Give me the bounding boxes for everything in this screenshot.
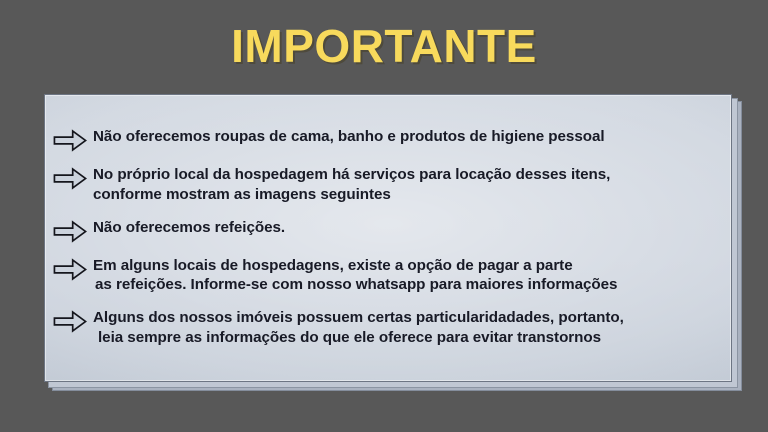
content-panel: Não oferecemos roupas de cama, banho e p… (44, 94, 732, 382)
list-item-text: Alguns dos nossos imóveis possuem certas… (93, 308, 723, 348)
bullet-list: Não oferecemos roupas de cama, banho e p… (53, 127, 723, 348)
list-item-text: No próprio local da hospedagem há serviç… (93, 165, 723, 205)
list-item-text: Não oferecemos refeições. (93, 218, 723, 238)
list-item: Alguns dos nossos imóveis possuem certas… (53, 308, 723, 348)
slide-canvas: IMPORTANTE Não oferecemos roupas de cama… (0, 0, 768, 432)
list-item-line-2: leia sempre as informações do que ele of… (93, 328, 723, 348)
list-item-line-1: No próprio local da hospedagem há serviç… (93, 166, 610, 183)
block-arrow-right-icon (53, 127, 93, 152)
list-item-text: Em alguns locais de hospedagens, existe … (93, 256, 723, 296)
list-item-line-1: Alguns dos nossos imóveis possuem certas… (93, 309, 624, 326)
list-item: Não oferecemos refeições. (53, 218, 723, 243)
list-item-line-1: Não oferecemos refeições. (93, 219, 285, 236)
list-item: Em alguns locais de hospedagens, existe … (53, 256, 723, 296)
list-item-line-2: as refeições. Informe-se com nosso whats… (93, 275, 723, 295)
list-item-line-1: Não oferecemos roupas de cama, banho e p… (93, 128, 605, 145)
block-arrow-right-icon (53, 256, 93, 281)
list-item-text: Não oferecemos roupas de cama, banho e p… (93, 127, 723, 147)
block-arrow-right-icon (53, 308, 93, 333)
block-arrow-right-icon (53, 165, 93, 190)
page-title: IMPORTANTE (0, 22, 768, 70)
list-item: No próprio local da hospedagem há serviç… (53, 165, 723, 205)
list-item: Não oferecemos roupas de cama, banho e p… (53, 127, 723, 152)
list-item-line-2: conforme mostram as imagens seguintes (93, 185, 723, 205)
list-item-line-1: Em alguns locais de hospedagens, existe … (93, 257, 573, 274)
block-arrow-right-icon (53, 218, 93, 243)
